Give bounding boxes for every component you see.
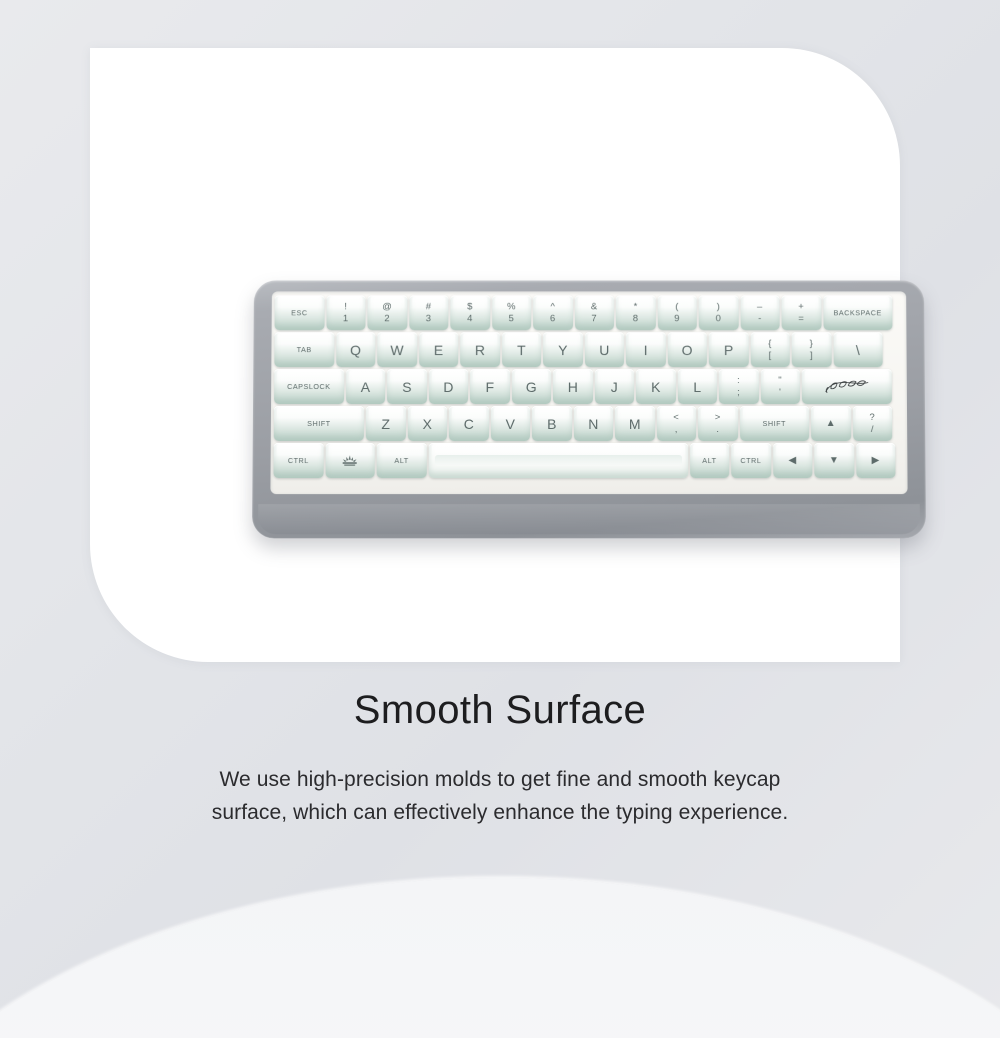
key-legend: \ <box>856 343 860 357</box>
key-legend: D <box>443 380 453 394</box>
key-h[interactable]: H <box>553 369 592 404</box>
key-legend: U <box>599 343 609 357</box>
key-9[interactable]: (9 <box>657 295 696 330</box>
key-shift-left[interactable]: SHIFT <box>274 406 364 441</box>
key-legend: ALT <box>394 457 408 464</box>
key-capslock[interactable]: CAPSLOCK <box>274 369 344 404</box>
key-i[interactable]: I <box>626 332 665 367</box>
key-legend: :; <box>737 376 740 397</box>
caption-text: We use high-precision molds to get fine … <box>0 764 1000 829</box>
key-space[interactable] <box>428 443 687 478</box>
key-backslash[interactable]: \ <box>833 332 883 367</box>
key-r[interactable]: R <box>460 332 500 367</box>
key-n[interactable]: N <box>573 406 613 441</box>
caption-block: Smooth Surface We use high-precision mol… <box>0 690 1000 829</box>
keyboard-row-home-row: CAPSLOCKASDFGHJKL:;"' <box>271 369 907 404</box>
key-backspace[interactable]: BACKSPACE <box>823 295 893 330</box>
key-arrow-right[interactable]: ▶ <box>856 443 896 478</box>
key-legend: CAPSLOCK <box>287 383 331 390</box>
key-2[interactable]: @2 <box>367 295 407 330</box>
key-tab[interactable]: TAB <box>274 332 334 367</box>
key-legend: {[ <box>768 339 772 360</box>
key-legend: X <box>422 416 431 430</box>
key-legend: G <box>526 380 537 394</box>
key-legend: (9 <box>674 302 680 323</box>
key-alt-left[interactable]: ALT <box>377 443 427 478</box>
leaf-branch-icon <box>824 378 870 396</box>
key-equal[interactable]: += <box>781 295 821 330</box>
key-quote[interactable]: "' <box>760 369 800 404</box>
key-7[interactable]: &7 <box>575 295 614 330</box>
key-arrow-down[interactable]: ▼ <box>814 443 854 478</box>
key-legend: Y <box>558 343 567 357</box>
key-period[interactable]: >. <box>698 406 738 441</box>
lotus-icon <box>341 454 359 468</box>
key-alt-right[interactable]: ALT <box>690 443 730 478</box>
key-legend: H <box>568 380 578 394</box>
key-legend: }] <box>810 339 814 360</box>
key-legend: R <box>475 343 485 357</box>
key-legend: SHIFT <box>763 420 787 427</box>
keyboard-case: ESC!1@2#3$4%5^6&7*8(9)0–-+=BACKSPACETABQ… <box>252 280 926 538</box>
key-bracket-right[interactable]: }] <box>792 332 832 367</box>
key-legend: "' <box>778 376 782 397</box>
key-3[interactable]: #3 <box>409 295 449 330</box>
key-slash[interactable]: ?/ <box>852 406 892 441</box>
key-k[interactable]: K <box>636 369 676 404</box>
key-legend: &7 <box>591 302 598 323</box>
key-legend: P <box>724 343 733 357</box>
key-legend: W <box>390 343 403 357</box>
key-legend: Z <box>381 416 390 430</box>
key-esc[interactable]: ESC <box>275 295 325 330</box>
key-l[interactable]: L <box>677 369 717 404</box>
key-legend: += <box>798 302 804 323</box>
keyboard-plate: ESC!1@2#3$4%5^6&7*8(9)0–-+=BACKSPACETABQ… <box>270 291 907 494</box>
key-shift-right[interactable]: SHIFT <box>739 406 809 441</box>
key-semicolon[interactable]: :; <box>719 369 759 404</box>
key-legend: TAB <box>297 346 312 353</box>
key-w[interactable]: W <box>377 332 417 367</box>
key-arrow-left[interactable]: ◀ <box>773 443 813 478</box>
key-minus[interactable]: –- <box>740 295 780 330</box>
key-legend: BACKSPACE <box>833 309 881 316</box>
key-f[interactable]: F <box>470 369 510 404</box>
key-legend: F <box>486 380 495 394</box>
key-legend: V <box>506 416 515 430</box>
key-legend: ▲ <box>826 418 836 428</box>
key-legend: K <box>651 380 660 394</box>
key-legend: –- <box>757 302 763 323</box>
key-legend: CTRL <box>740 457 761 464</box>
keyboard-row-qwerty-row: TABQWERTYUIOP{[}]\ <box>271 332 906 367</box>
key-legend: S <box>402 380 411 394</box>
key-legend: )0 <box>716 302 722 323</box>
key-8[interactable]: *8 <box>616 295 655 330</box>
caption-line-1: We use high-precision molds to get fine … <box>220 768 781 791</box>
key-legend: ALT <box>702 457 716 464</box>
key-legend: ESC <box>291 309 307 316</box>
key-1[interactable]: !1 <box>326 295 366 330</box>
key-legend: $4 <box>467 302 473 323</box>
key-m[interactable]: M <box>615 406 655 441</box>
key-o[interactable]: O <box>667 332 707 367</box>
key-t[interactable]: T <box>502 332 542 367</box>
key-legend: J <box>611 380 618 394</box>
key-bracket-left[interactable]: {[ <box>750 332 790 367</box>
key-legend: #3 <box>426 302 432 323</box>
key-legend: ◀ <box>788 456 796 466</box>
key-b[interactable]: B <box>532 406 572 441</box>
key-p[interactable]: P <box>709 332 749 367</box>
key-legend: *8 <box>633 302 639 323</box>
key-legend: %5 <box>507 302 516 323</box>
key-v[interactable]: V <box>490 406 530 441</box>
page-title: Smooth Surface <box>0 690 1000 730</box>
key-legend: N <box>588 416 598 430</box>
key-z[interactable]: Z <box>366 406 406 441</box>
key-y[interactable]: Y <box>543 332 582 367</box>
key-a[interactable]: A <box>346 369 386 404</box>
key-comma[interactable]: <, <box>656 406 696 441</box>
key-g[interactable]: G <box>512 369 552 404</box>
key-legend: M <box>629 416 641 430</box>
key-c[interactable]: C <box>449 406 489 441</box>
key-legend: I <box>644 343 648 357</box>
key-e[interactable]: E <box>419 332 459 367</box>
key-legend: C <box>464 416 474 430</box>
key-legend: ▼ <box>829 456 839 466</box>
key-legend: Q <box>350 343 361 357</box>
product-hero-card: ESC!1@2#3$4%5^6&7*8(9)0–-+=BACKSPACETABQ… <box>90 48 900 662</box>
key-legend: !1 <box>343 302 349 323</box>
key-logo[interactable] <box>325 443 375 478</box>
key-ctrl-left[interactable]: CTRL <box>273 443 323 478</box>
key-0[interactable]: )0 <box>699 295 739 330</box>
key-legend: ?/ <box>869 413 875 434</box>
key-legend: CTRL <box>288 457 309 464</box>
key-legend: E <box>434 343 443 357</box>
key-q[interactable]: Q <box>336 332 376 367</box>
key-4[interactable]: $4 <box>450 295 490 330</box>
key-legend: SHIFT <box>307 420 331 427</box>
key-arrow-up[interactable]: ▲ <box>811 406 851 441</box>
bottom-decorative-shape <box>0 878 1000 1038</box>
key-u[interactable]: U <box>585 332 624 367</box>
key-legend: O <box>682 343 693 357</box>
key-d[interactable]: D <box>429 369 469 404</box>
keyboard-row-bottom-row: CTRLALTALTCTRL◀▼▶ <box>270 443 907 478</box>
key-legend: A <box>361 380 370 394</box>
key-legend: B <box>547 416 556 430</box>
key-enter[interactable] <box>802 369 892 404</box>
key-ctrl-right[interactable]: CTRL <box>731 443 771 478</box>
key-legend: ▶ <box>872 456 880 466</box>
key-legend: @2 <box>382 302 392 323</box>
key-legend: T <box>517 343 526 357</box>
keyboard-row-number-row: ESC!1@2#3$4%5^6&7*8(9)0–-+=BACKSPACE <box>272 295 907 330</box>
key-j[interactable]: J <box>594 369 633 404</box>
caption-line-2: surface, which can effectively enhance t… <box>212 801 789 824</box>
key-legend: ^6 <box>550 302 556 323</box>
key-legend: <, <box>673 413 679 434</box>
key-5[interactable]: %5 <box>492 295 531 330</box>
key-s[interactable]: S <box>387 369 427 404</box>
key-x[interactable]: X <box>407 406 447 441</box>
keyboard-row-shift-row: SHIFTZXCVBNM<,>.SHIFT▲?/ <box>271 406 907 441</box>
key-legend: L <box>693 380 701 394</box>
key-legend: >. <box>715 413 721 434</box>
key-6[interactable]: ^6 <box>533 295 572 330</box>
keyboard-product-image: ESC!1@2#3$4%5^6&7*8(9)0–-+=BACKSPACETABQ… <box>253 280 925 538</box>
